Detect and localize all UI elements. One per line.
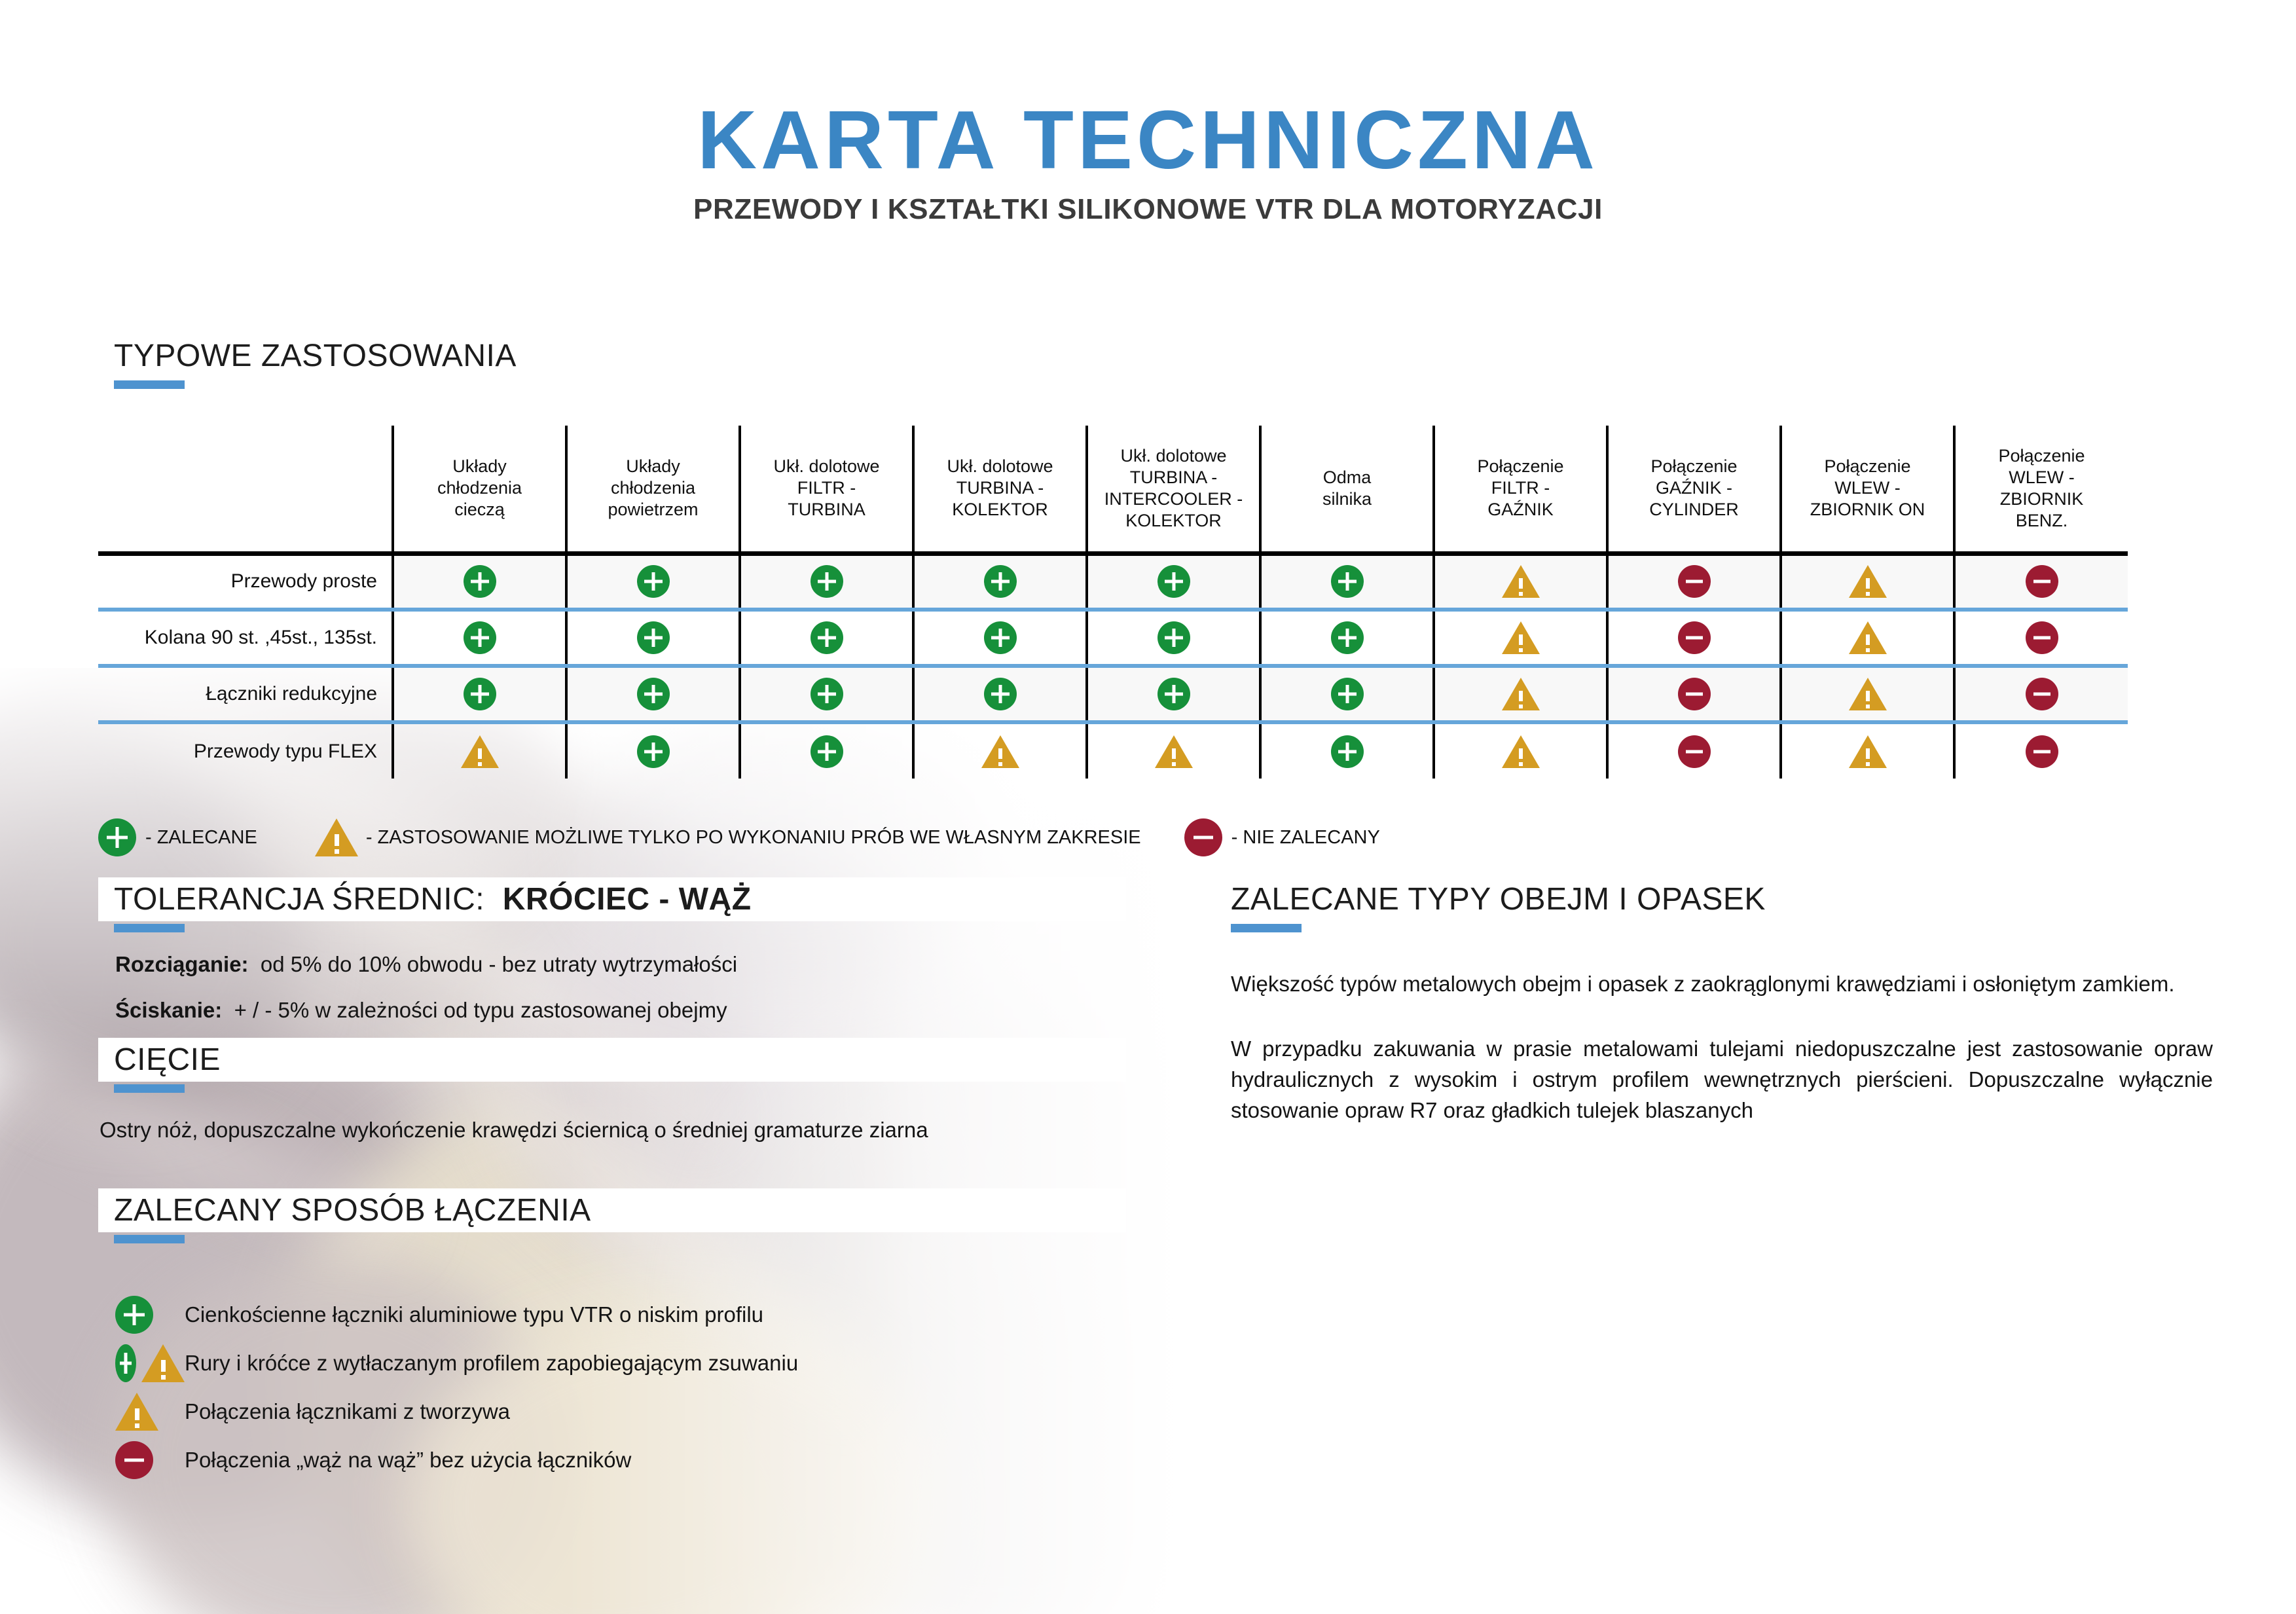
- row-label: Przewody proste: [98, 553, 393, 610]
- matrix-cell: [1260, 553, 1434, 610]
- list-item-label: Połączenia „wąż na wąż” bez użycia łączn…: [185, 1448, 631, 1473]
- list-item-label: Rury i króćce z wytłaczanym profilem zap…: [185, 1351, 798, 1376]
- warning-icon: [1155, 735, 1193, 768]
- plus-icon: [1157, 678, 1190, 710]
- column-header-line: Układy: [572, 456, 735, 477]
- matrix-body: Przewody prosteKolana 90 st. ,45st., 135…: [98, 553, 2128, 779]
- matrix-cell: [1781, 553, 1954, 610]
- list-item-label: Cienkościenne łączniki aluminiowe typu V…: [185, 1302, 763, 1327]
- section-title-tolerance: TOLERANCJA ŚREDNIC: KRÓCIEC - WĄŻ: [114, 882, 752, 917]
- warning-icon: [1502, 678, 1540, 710]
- matrix-cell: [1434, 722, 1607, 779]
- list-item: Rury i króćce z wytłaczanym profilem zap…: [98, 1339, 1126, 1387]
- column-header-line: WLEW -: [1959, 467, 2124, 488]
- matrix-header-row: Układychłodzeniacieczą Układychłodzeniap…: [98, 426, 2128, 553]
- list-item-icons: [98, 1296, 185, 1334]
- matrix-cell: [740, 610, 913, 666]
- page-title: KARTA TECHNICZNA: [0, 98, 2296, 183]
- warning-icon: [1849, 565, 1887, 598]
- legend-item-not-recommended: - NIE ZALECANY: [1184, 818, 1380, 856]
- matrix-cell: [1260, 666, 1434, 722]
- minus-icon: [1678, 735, 1711, 768]
- matrix-cell: [1260, 722, 1434, 779]
- plus-icon: [811, 678, 843, 710]
- legend-item-conditional: - ZASTOSOWANIE MOŻLIWE TYLKO PO WYKONANI…: [316, 818, 1141, 856]
- table-row: Przewody typu FLEX: [98, 722, 2128, 779]
- plus-icon: [637, 735, 670, 768]
- plus-icon: [98, 818, 136, 856]
- warning-icon: [141, 1344, 185, 1382]
- minus-icon: [2026, 565, 2058, 598]
- cutting-section: CIĘCIE Ostry nóż, dopuszczalne wykończen…: [98, 1038, 1126, 1146]
- section-title-applications: TYPOWE ZASTOSOWANIA: [114, 339, 517, 373]
- joining-method-list: Cienkościenne łączniki aluminiowe typu V…: [98, 1291, 1126, 1484]
- list-item-icons: [98, 1441, 185, 1479]
- column-header-wlew-zbiornik-on: PołączenieWLEW -ZBIORNIK ON: [1781, 426, 1954, 553]
- plus-icon: [637, 621, 670, 654]
- minus-icon: [2026, 678, 2058, 710]
- matrix-cell: [1260, 610, 1434, 666]
- column-header-line: ZBIORNIK: [1959, 488, 2124, 510]
- table-row: Przewody proste: [98, 553, 2128, 610]
- section-band: ZALECANY SPOSÓB ŁĄCZENIA: [98, 1188, 1126, 1232]
- tolerance-value-stretch: od 5% do 10% obwodu - bez utraty wytrzym…: [261, 952, 737, 976]
- legend-label-recommended: - ZALECANE: [145, 827, 257, 849]
- plus-icon: [811, 621, 843, 654]
- clamps-section: ZALECANE TYPY OBEJM I OPASEK Większość t…: [1231, 877, 2232, 1126]
- column-header-uklady-chlodzenia-ciecza: Układychłodzeniacieczą: [393, 426, 566, 553]
- column-header-odma-silnika: Odmasilnika: [1260, 426, 1434, 553]
- legend-label-not-recommended: - NIE ZALECANY: [1231, 827, 1380, 849]
- warning-icon: [1502, 621, 1540, 654]
- column-header-wlew-zbiornik-benz: PołączenieWLEW -ZBIORNIKBENZ.: [1954, 426, 2128, 553]
- matrix-cell: [1607, 666, 1781, 722]
- column-header-line: Połączenie: [1613, 456, 1776, 477]
- matrix-cell: [913, 666, 1087, 722]
- warning-icon: [461, 735, 499, 768]
- matrix-cell: [566, 553, 740, 610]
- column-header-line: Ukł. dolotowe: [919, 456, 1082, 477]
- warning-icon: [315, 818, 358, 856]
- matrix-cell: [393, 666, 566, 722]
- tolerance-key-stretch: Rozciąganie:: [115, 952, 249, 976]
- list-item-label: Połączenia łącznikami z tworzywa: [185, 1399, 510, 1424]
- column-header-line: TURBINA: [745, 499, 908, 521]
- matrix-cell: [1954, 722, 2128, 779]
- row-label: Łączniki redukcyjne: [98, 666, 393, 722]
- column-header-filtr-gaznik: PołączenieFILTR -GAŹNIK: [1434, 426, 1607, 553]
- warning-icon: [1849, 678, 1887, 710]
- minus-icon: [1678, 565, 1711, 598]
- matrix-cell: [740, 666, 913, 722]
- table-row: Kolana 90 st. ,45st., 135st.: [98, 610, 2128, 666]
- plus-icon: [1331, 735, 1364, 768]
- column-header-line: ZBIORNIK ON: [1786, 499, 1949, 521]
- tolerance-value-compression: + / - 5% w zależności od typu zastosowan…: [234, 998, 727, 1022]
- section-title-clamps: ZALECANE TYPY OBEJM I OPASEK: [1231, 882, 1766, 917]
- warning-icon: [1502, 565, 1540, 598]
- plus-icon: [637, 678, 670, 710]
- matrix-cell: [393, 722, 566, 779]
- matrix-cell: [393, 610, 566, 666]
- document-header: KARTA TECHNICZNA PRZEWODY I KSZTAŁTKI SI…: [0, 0, 2296, 226]
- warning-icon: [1849, 735, 1887, 768]
- list-item: Połączenia „wąż na wąż” bez użycia łączn…: [98, 1436, 1126, 1484]
- tolerance-row-compression: Ściskanie: + / - 5% w zależności od typu…: [115, 998, 1126, 1023]
- section-band: CIĘCIE: [98, 1038, 1126, 1082]
- minus-icon: [1678, 621, 1711, 654]
- matrix-cell: [1087, 610, 1260, 666]
- matrix-cell: [1087, 666, 1260, 722]
- clamps-paragraph-1: Większość typów metalowych obejm i opase…: [1231, 969, 2213, 1000]
- column-header-filtr-turbina: Ukł. dolotoweFILTR -TURBINA: [740, 426, 913, 553]
- column-header-line: powietrzem: [572, 499, 735, 521]
- column-header-turbina-intercooler-kolektor: Ukł. dolotoweTURBINA -INTERCOOLER -KOLEK…: [1087, 426, 1260, 553]
- joining-section: ZALECANY SPOSÓB ŁĄCZENIA Cienkościenne ł…: [98, 1188, 1126, 1484]
- matrix-cell: [1087, 553, 1260, 610]
- column-header-line: GAŹNIK -: [1613, 477, 1776, 499]
- section-title-cutting: CIĘCIE: [114, 1042, 221, 1077]
- column-header-line: Połączenie: [1786, 456, 1949, 477]
- matrix-cell: [913, 610, 1087, 666]
- section-band: TYPOWE ZASTOSOWANIA: [98, 334, 635, 378]
- matrix-corner-cell: [98, 426, 393, 553]
- tolerance-key-compression: Ściskanie:: [115, 998, 222, 1022]
- column-header-line: Ukł. dolotowe: [1092, 445, 1255, 467]
- list-item: Cienkościenne łączniki aluminiowe typu V…: [98, 1291, 1126, 1339]
- warning-icon: [115, 1393, 158, 1431]
- plus-icon: [1331, 621, 1364, 654]
- column-header-turbina-kolektor: Ukł. dolotoweTURBINA -KOLEKTOR: [913, 426, 1087, 553]
- column-header-uklady-chlodzenia-powietrzem: Układychłodzeniapowietrzem: [566, 426, 740, 553]
- plus-icon: [984, 565, 1017, 598]
- matrix-cell: [393, 553, 566, 610]
- matrix-cell: [1607, 610, 1781, 666]
- column-header-line: FILTR -: [1439, 477, 1602, 499]
- minus-icon: [2026, 735, 2058, 768]
- matrix-cell: [1781, 722, 1954, 779]
- matrix-legend: - ZALECANE - ZASTOSOWANIE MOŻLIWE TYLKO …: [98, 818, 1380, 856]
- section-title-joining: ZALECANY SPOSÓB ŁĄCZENIA: [114, 1193, 591, 1228]
- matrix-cell: [1781, 666, 1954, 722]
- row-label: Kolana 90 st. ,45st., 135st.: [98, 610, 393, 666]
- matrix-cell: [1434, 666, 1607, 722]
- column-header-line: chłodzenia: [572, 477, 735, 499]
- section-accent-rule: [114, 1084, 185, 1093]
- matrix-cell: [1607, 553, 1781, 610]
- plus-icon: [811, 565, 843, 598]
- column-header-line: BENZ.: [1959, 510, 2124, 532]
- matrix-cell: [913, 722, 1087, 779]
- column-header-line: Połączenie: [1439, 456, 1602, 477]
- plus-icon: [1157, 621, 1190, 654]
- legend-item-recommended: - ZALECANE: [98, 818, 257, 856]
- column-header-line: KOLEKTOR: [919, 499, 1082, 521]
- warning-icon: [1502, 735, 1540, 768]
- list-item: Połączenia łącznikami z tworzywa: [98, 1387, 1126, 1436]
- page-subtitle: PRZEWODY I KSZTAŁTKI SILIKONOWE VTR DLA …: [0, 193, 2296, 226]
- warning-icon: [1849, 621, 1887, 654]
- column-header-gaznik-cylinder: PołączenieGAŹNIK -CYLINDER: [1607, 426, 1781, 553]
- column-header-line: GAŹNIK: [1439, 499, 1602, 521]
- matrix-cell: [1434, 610, 1607, 666]
- plus-icon: [1331, 678, 1364, 710]
- matrix-cell: [1954, 666, 2128, 722]
- matrix-cell: [1434, 553, 1607, 610]
- tolerance-row-stretch: Rozciąganie: od 5% do 10% obwodu - bez u…: [115, 952, 1126, 977]
- minus-icon: [2026, 621, 2058, 654]
- column-header-line: WLEW -: [1786, 477, 1949, 499]
- column-header-line: FILTR -: [745, 477, 908, 499]
- list-item-icons: [98, 1344, 185, 1382]
- matrix-cell: [1607, 722, 1781, 779]
- matrix-cell: [740, 553, 913, 610]
- column-header-line: TURBINA -: [1092, 467, 1255, 488]
- clamps-paragraph-2: W przypadku zakuwania w prasie metalowam…: [1231, 1034, 2213, 1126]
- matrix-cell: [1954, 610, 2128, 666]
- plus-icon: [115, 1296, 153, 1334]
- column-header-line: Układy: [398, 456, 561, 477]
- plus-icon: [1331, 565, 1364, 598]
- plus-icon: [1157, 565, 1190, 598]
- legend-label-conditional: - ZASTOSOWANIE MOŻLIWE TYLKO PO WYKONANI…: [366, 827, 1141, 849]
- plus-icon: [984, 621, 1017, 654]
- column-header-line: Odma: [1266, 467, 1429, 488]
- table-row: Łączniki redukcyjne: [98, 666, 2128, 722]
- plus-icon: [637, 565, 670, 598]
- list-item-icons: [98, 1393, 185, 1431]
- applications-section-heading: TYPOWE ZASTOSOWANIA: [98, 334, 635, 389]
- cutting-paragraph: Ostry nóż, dopuszczalne wykończenie kraw…: [98, 1115, 1106, 1146]
- column-header-line: KOLEKTOR: [1092, 510, 1255, 532]
- tolerance-section: TOLERANCJA ŚREDNIC: KRÓCIEC - WĄŻ Rozcią…: [98, 877, 1126, 1023]
- section-band: TOLERANCJA ŚREDNIC: KRÓCIEC - WĄŻ: [98, 877, 1126, 921]
- column-header-line: Połączenie: [1959, 445, 2124, 467]
- section-accent-rule: [1231, 924, 1302, 932]
- column-header-line: INTERCOOLER -: [1092, 488, 1255, 510]
- column-header-line: TURBINA -: [919, 477, 1082, 499]
- matrix-cell: [566, 610, 740, 666]
- column-header-line: silnika: [1266, 488, 1429, 510]
- plus-icon: [984, 678, 1017, 710]
- matrix-cell: [740, 722, 913, 779]
- plus-icon: [811, 735, 843, 768]
- minus-icon: [1184, 818, 1222, 856]
- column-header-line: CYLINDER: [1613, 499, 1776, 521]
- section-accent-rule: [114, 380, 185, 389]
- warning-icon: [981, 735, 1019, 768]
- section-accent-rule: [114, 924, 185, 932]
- column-header-line: chłodzenia: [398, 477, 561, 499]
- matrix-cell: [566, 722, 740, 779]
- column-header-line: Ukł. dolotowe: [745, 456, 908, 477]
- section-accent-rule: [114, 1235, 185, 1243]
- section-band: ZALECANE TYPY OBEJM I OPASEK: [1231, 877, 2232, 921]
- plus-icon: [464, 678, 496, 710]
- matrix-cell: [913, 553, 1087, 610]
- matrix-cell: [566, 666, 740, 722]
- column-header-line: cieczą: [398, 499, 561, 521]
- minus-icon: [115, 1441, 153, 1479]
- row-label: Przewody typu FLEX: [98, 722, 393, 779]
- applications-matrix-table: Układychłodzeniacieczą Układychłodzeniap…: [98, 426, 2128, 779]
- matrix-cell: [1087, 722, 1260, 779]
- datasheet-page: KARTA TECHNICZNA PRZEWODY I KSZTAŁTKI SI…: [0, 0, 2296, 1614]
- plus-icon: [464, 621, 496, 654]
- minus-icon: [1678, 678, 1711, 710]
- matrix-cell: [1954, 553, 2128, 610]
- plus-icon: [115, 1344, 136, 1382]
- matrix-cell: [1781, 610, 1954, 666]
- plus-icon: [464, 565, 496, 598]
